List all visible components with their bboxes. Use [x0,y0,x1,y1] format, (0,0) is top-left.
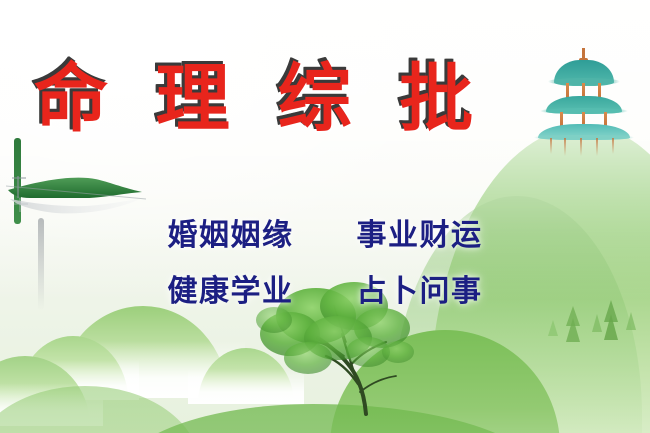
text-layer: 命 理 综 批 婚姻姻缘 事业财运 健康学业 占卜问事 [0,0,650,433]
subtitle-line-2: 健康学业 占卜问事 [0,266,650,310]
banner-image: 命 理 综 批 婚姻姻缘 事业财运 健康学业 占卜问事 [0,0,650,433]
subtitle-line-1: 婚姻姻缘 事业财运 [0,210,650,254]
page-title: 命 理 综 批 [34,54,434,144]
